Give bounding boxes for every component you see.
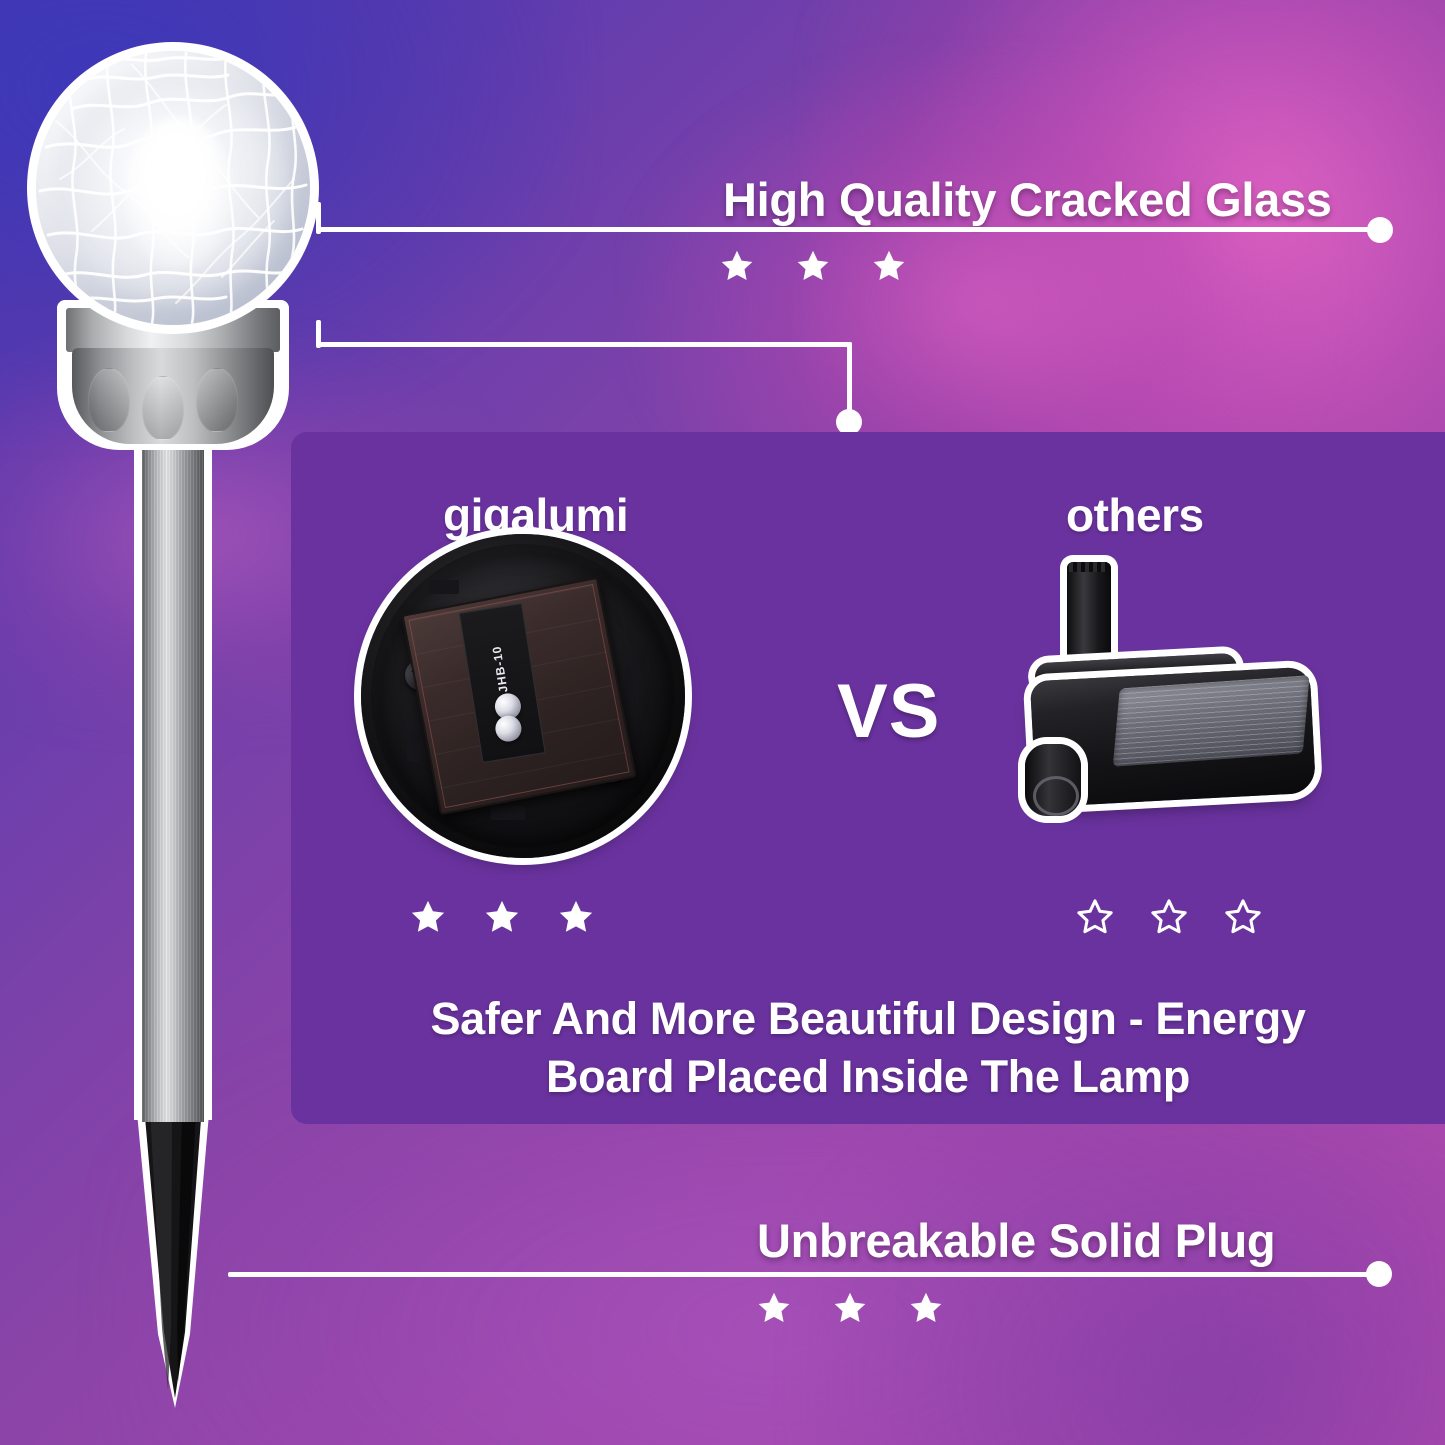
- comparison-label-others: others: [1066, 488, 1204, 542]
- star-outline-icon: [1076, 898, 1114, 936]
- callout-leader-elbow: [316, 320, 321, 348]
- infographic-canvas: High Quality Cracked Glass gigalumi othe…: [0, 0, 1445, 1445]
- callout-cracked-glass-title: High Quality Cracked Glass: [723, 172, 1332, 227]
- others-star-rating: [1076, 898, 1298, 936]
- gigalumi-star-rating: [409, 898, 631, 936]
- callout-leader-line: [228, 1272, 1378, 1277]
- ground-plug: [130, 1102, 216, 1412]
- callout-endpoint-dot: [1367, 217, 1393, 243]
- gigalumi-product-photo: JHB-10: [361, 534, 685, 858]
- housing-clip: [429, 580, 459, 594]
- star-filled-icon: [557, 898, 595, 936]
- collar-facet: [88, 368, 130, 432]
- energy-board: JHB-10: [401, 577, 636, 815]
- star-filled-icon: [795, 248, 831, 284]
- collar-facet: [196, 368, 238, 432]
- others-solar-cell: [1113, 675, 1310, 767]
- star-outline-icon: [1224, 898, 1262, 936]
- star-outline-icon: [1150, 898, 1188, 936]
- star-filled-icon: [756, 1290, 792, 1326]
- comparison-caption-line-2: Board Placed Inside The Lamp: [291, 1048, 1445, 1106]
- stainless-steel-stem: [142, 432, 204, 1122]
- comparison-caption-line-1: Safer And More Beautiful Design - Energy: [291, 990, 1445, 1048]
- star-filled-icon: [832, 1290, 868, 1326]
- led-icon: [494, 714, 524, 744]
- comparison-panel-header: gigalumi others: [291, 462, 1445, 522]
- callout-cracked-glass-stars: [719, 248, 947, 284]
- others-post-cap: [1069, 562, 1109, 572]
- callout-leader-drop: [847, 342, 852, 418]
- collar-facet: [142, 376, 184, 440]
- callout-solid-plug-stars: [756, 1290, 984, 1326]
- comparison-panel: gigalumi others VS JHB-10: [291, 432, 1445, 1124]
- callout-leader-line: [318, 227, 1377, 232]
- others-product-photo: [997, 562, 1327, 830]
- comparison-caption: Safer And More Beautiful Design - Energy…: [291, 990, 1445, 1105]
- callout-leader-line: [318, 342, 852, 347]
- housing-clip: [407, 732, 420, 762]
- star-filled-icon: [719, 248, 755, 284]
- star-filled-icon: [871, 248, 907, 284]
- versus-label: VS: [837, 668, 940, 755]
- callout-endpoint-dot: [1366, 1261, 1392, 1287]
- others-mount-post: [1067, 562, 1111, 668]
- crackled-glass-globe: [36, 51, 310, 325]
- star-filled-icon: [409, 898, 447, 936]
- others-foot-ring: [1033, 776, 1079, 816]
- energy-board-strip: JHB-10: [459, 603, 546, 763]
- star-filled-icon: [483, 898, 521, 936]
- callout-solid-plug-title: Unbreakable Solid Plug: [757, 1213, 1275, 1268]
- crackle-pattern: [36, 51, 310, 325]
- housing-clip: [491, 806, 525, 820]
- star-filled-icon: [908, 1290, 944, 1326]
- housing-clip: [625, 670, 639, 704]
